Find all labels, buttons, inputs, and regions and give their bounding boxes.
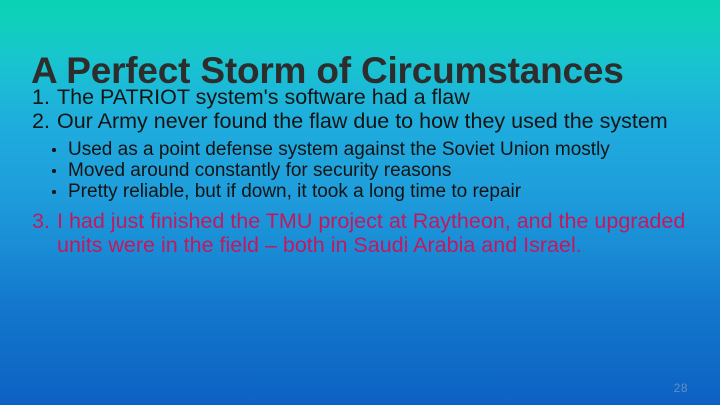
dot-bullet-icon	[52, 148, 56, 152]
slide-page-number: 28	[674, 381, 688, 395]
list-marker-1: 1.	[32, 86, 57, 110]
sub-bullet-text-1: Used as a point defense system against t…	[68, 139, 610, 160]
list-item-text-1: The PATRIOT system's software had a flaw	[57, 85, 470, 109]
list-item-text-3: I had just finished the TMU project at R…	[57, 209, 685, 257]
sub-bullet-item-3: Pretty reliable, but if down, it took a …	[0, 181, 720, 202]
list-marker-3: 3.	[32, 210, 57, 234]
numbered-list-item-1: 1. The PATRIOT system's software had a f…	[0, 86, 720, 110]
list-item-text-2: Our Army never found the flaw due to how…	[57, 109, 668, 133]
dot-bullet-icon	[52, 190, 56, 194]
slide-body-content: 1. The PATRIOT system's software had a f…	[0, 86, 720, 257]
sub-bullet-text-2: Moved around constantly for security rea…	[68, 160, 451, 181]
sub-bullet-item-2: Moved around constantly for security rea…	[0, 160, 720, 181]
presentation-slide: A Perfect Storm of Circumstances 1. The …	[0, 0, 720, 405]
list-marker-2: 2.	[32, 110, 57, 134]
numbered-list-item-3: 3. I had just finished the TMU project a…	[0, 210, 720, 257]
sub-bullet-text-3: Pretty reliable, but if down, it took a …	[68, 181, 521, 202]
numbered-list-item-2: 2. Our Army never found the flaw due to …	[0, 110, 720, 134]
dot-bullet-icon	[52, 169, 56, 173]
sub-bullet-item-1: Used as a point defense system against t…	[0, 139, 720, 160]
